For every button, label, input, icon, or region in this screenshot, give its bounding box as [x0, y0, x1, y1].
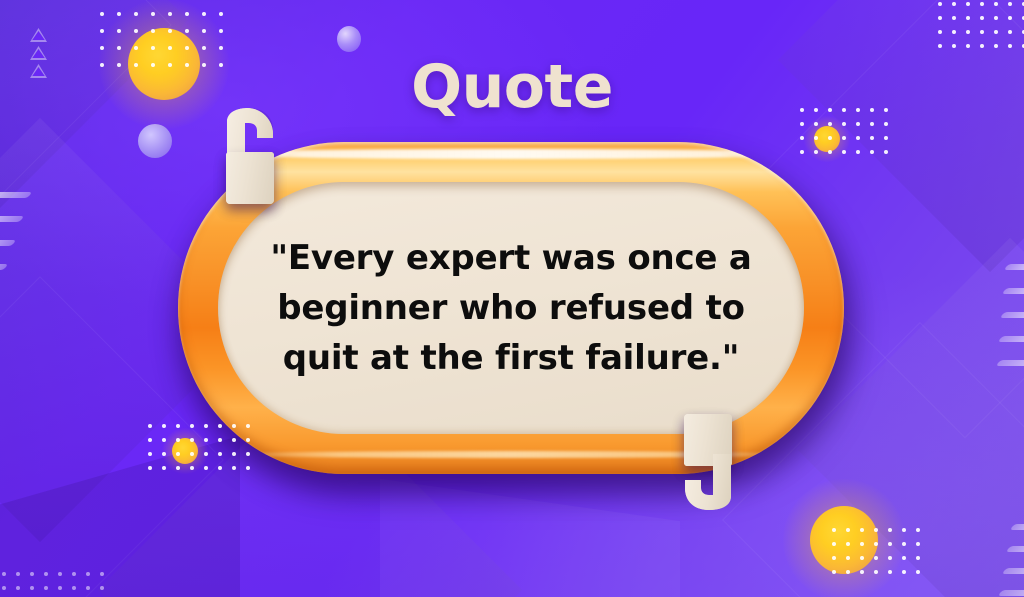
- dot-grid-top-left: [100, 12, 236, 80]
- stripe-line: [0, 192, 32, 198]
- open-quote-icon: [226, 108, 274, 204]
- stripe-line: [1002, 568, 1024, 574]
- stripe-line: [1000, 312, 1024, 318]
- frame-highlight-top: [205, 149, 818, 159]
- dot-grid-bottom-right: [832, 528, 930, 584]
- background-facet: [380, 479, 680, 597]
- diagonal-stripes-bottom-right: [958, 520, 1024, 597]
- quote-card: "Every expert was once a beginner who re…: [178, 142, 844, 474]
- stripe-line: [0, 264, 8, 270]
- dot-grid-corner-top-right: [938, 2, 1024, 58]
- stripe-line: [0, 240, 16, 246]
- stripe-line: [1010, 524, 1024, 530]
- lavender-circle-top-left: [138, 124, 172, 158]
- diagonal-stripes-right: [962, 258, 1024, 378]
- stripe-line: [1004, 264, 1024, 270]
- stripe-line: [996, 360, 1024, 366]
- stripe-line: [1002, 288, 1024, 294]
- dot-grid-top-right: [800, 108, 898, 164]
- quote-panel: "Every expert was once a beginner who re…: [218, 182, 804, 434]
- quote-body: [226, 152, 274, 204]
- stripe-line: [0, 216, 24, 222]
- diagonal-stripes-left: [0, 186, 46, 306]
- quote-text: "Every expert was once a beginner who re…: [246, 233, 776, 384]
- bubble-circle-top: [337, 26, 361, 52]
- quote-card-canvas: Quote "Every expert was once a beginner …: [0, 0, 1024, 597]
- close-quote-icon: [684, 414, 732, 510]
- stripe-line: [998, 590, 1024, 596]
- dot-grid-corner-bottom-left: [2, 572, 114, 597]
- dot-grid-bottom-left: [148, 424, 260, 480]
- stripe-line: [1006, 546, 1024, 552]
- triangle-icon: [30, 28, 47, 42]
- stripe-line: [998, 336, 1024, 342]
